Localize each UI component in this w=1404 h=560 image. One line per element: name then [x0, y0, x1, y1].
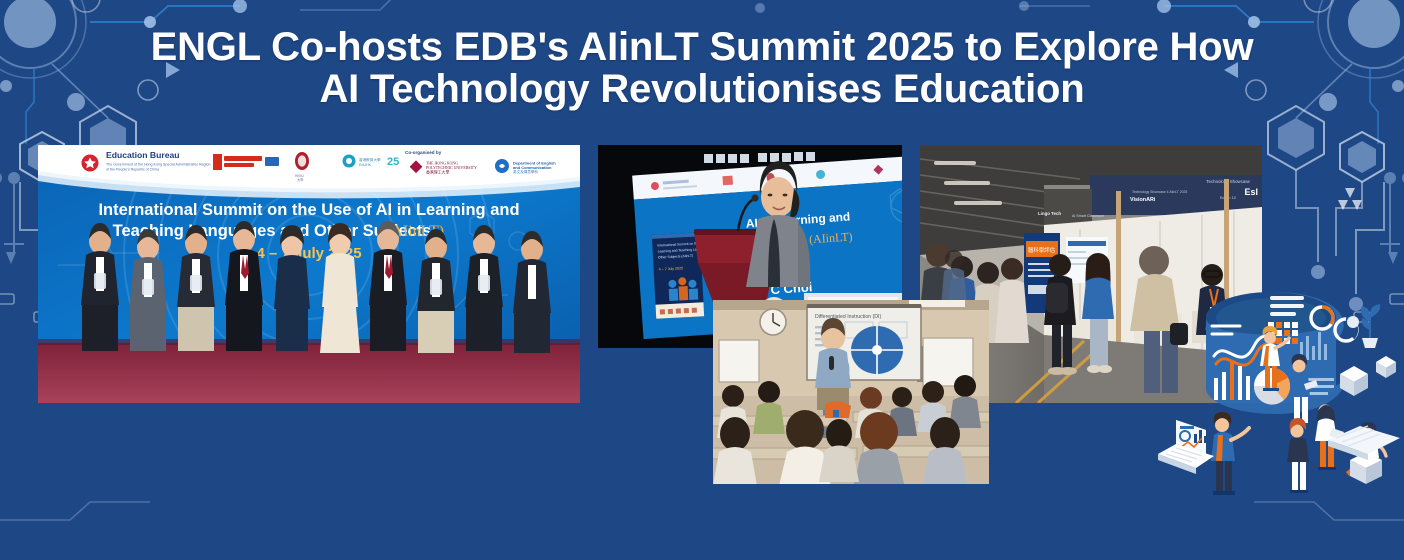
svg-text:Education Bureau: Education Bureau — [106, 150, 180, 160]
page-title: ENGL Co-hosts EDB's AIinLT Summit 2025 t… — [0, 26, 1404, 111]
svg-text:AI Smart Classroom: AI Smart Classroom — [1072, 214, 1104, 218]
group-photo: Education Bureau The Government of the H… — [38, 145, 580, 403]
svg-text:The Government of the Hong Kon: The Government of the Hong Kong Special … — [106, 163, 210, 167]
svg-text:International Summit on the Us: International Summit on the Use of AI in… — [98, 201, 519, 219]
data-analytics-illustration — [1150, 282, 1404, 500]
svg-text:VisionARi: VisionARi — [1130, 197, 1156, 203]
svg-text:of the People's Republic of Ch: of the People's Republic of China — [106, 168, 159, 172]
svg-text:Differentiated Instruction (DI: Differentiated Instruction (DI) — [815, 314, 881, 320]
classroom-photo: Differentiated Instruction (DI) — [713, 300, 989, 484]
svg-text:大學: 大學 — [297, 177, 304, 182]
svg-text:Lingo Tech: Lingo Tech — [1038, 211, 1061, 216]
svg-text:腦科學評估: 腦科學評估 — [1028, 246, 1056, 254]
svg-text:香港理工大學: 香港理工大學 — [426, 169, 449, 174]
svg-text:香港教育大學: 香港教育大學 — [359, 157, 381, 162]
news-banner: ENGL Co-hosts EDB's AIinLT Summit 2025 t… — [0, 0, 1404, 560]
svg-text:Co-organised by: Co-organised by — [405, 150, 442, 155]
headline-line-1: ENGL Co-hosts EDB's AIinLT Summit 2025 t… — [151, 25, 1254, 69]
svg-text:THE HONG KONG: THE HONG KONG — [426, 162, 458, 166]
svg-text:英文及傳意學系: 英文及傳意學系 — [513, 169, 539, 174]
svg-text:Technology Showcase 4 AIinLT 2: Technology Showcase 4 AIinLT 2025 — [1132, 190, 1187, 194]
svg-text:EdUHK: EdUHK — [359, 163, 372, 167]
headline-line-2: AI Technology Revolutionises Education — [0, 68, 1404, 110]
svg-text:25: 25 — [387, 156, 399, 168]
svg-text:Esl: Esl — [1244, 187, 1258, 197]
